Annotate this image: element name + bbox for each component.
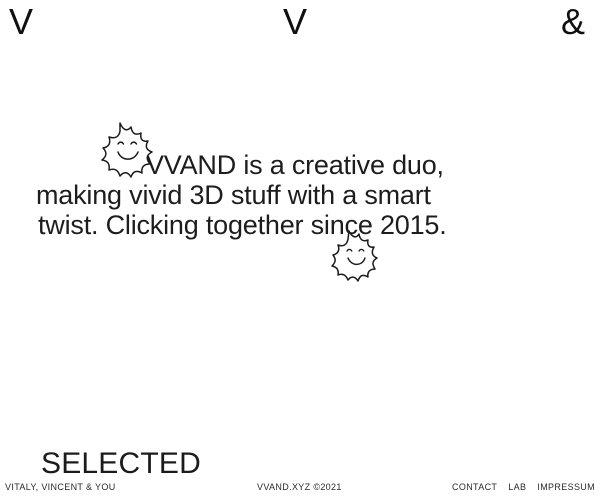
hero-line-3: twist. Clicking together since 2015. (0, 210, 600, 240)
top-letter-ampersand[interactable]: & (561, 4, 585, 40)
smiling-sun-icon (90, 120, 164, 184)
hero-line-2: making vivid 3D stuff with a smart (0, 180, 600, 210)
footer-nav: CONTACT LAB IMPRESSUM (452, 480, 595, 494)
smiling-sun-icon (322, 228, 388, 288)
footer-link-impressum[interactable]: IMPRESSUM (537, 480, 595, 494)
smiling-sun-doodle-upper (90, 120, 164, 184)
footer-credits: VITALY, VINCENT & YOU (5, 480, 116, 494)
top-letter-v-second[interactable]: V (283, 4, 307, 40)
top-letter-v-first[interactable]: V (9, 4, 33, 40)
footer-copyright: VVAND.XYZ ©2021 (257, 480, 342, 494)
smiling-sun-doodle-lower (322, 228, 388, 288)
top-letter-row: V V & (0, 0, 600, 46)
footer-link-contact[interactable]: CONTACT (452, 480, 497, 494)
selected-section-heading: SELECTED (41, 449, 201, 479)
footer: VITALY, VINCENT & YOU VVAND.XYZ ©2021 CO… (0, 480, 600, 494)
footer-link-lab[interactable]: LAB (508, 480, 526, 494)
